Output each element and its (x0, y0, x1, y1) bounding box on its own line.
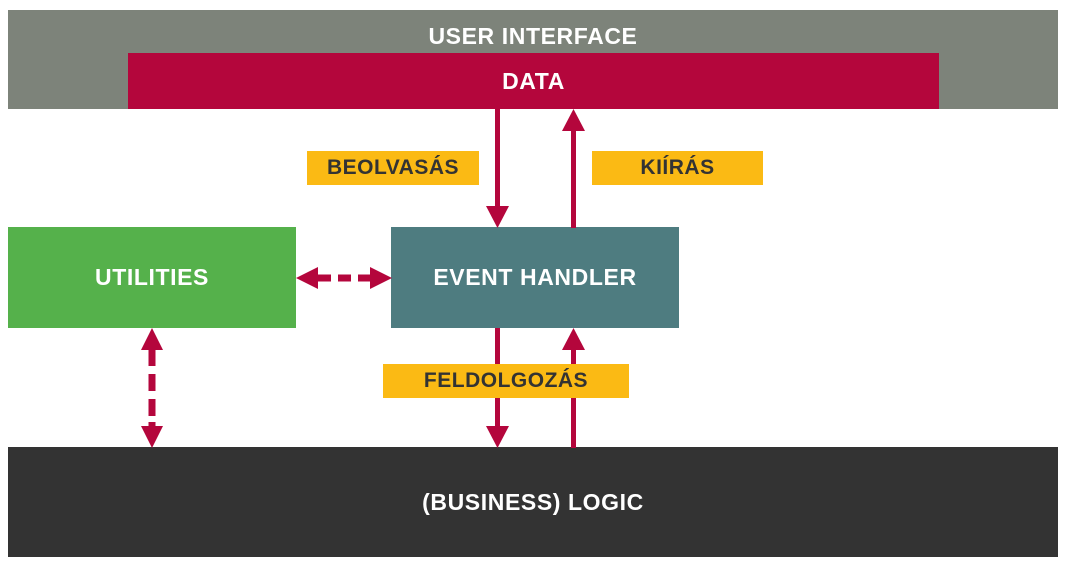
utilities-block: UTILITIES (8, 227, 296, 328)
arrow-data-to-event-handler (481, 109, 513, 228)
user-interface-label: USER INTERFACE (428, 23, 637, 50)
tag-kiiras-label: KIÍRÁS (640, 156, 714, 180)
utilities-label: UTILITIES (95, 264, 209, 291)
event-handler-label: EVENT HANDLER (433, 264, 636, 291)
event-handler-block: EVENT HANDLER (391, 227, 679, 328)
arrow-event-handler-to-data (557, 109, 589, 228)
arrow-utilities-logic (138, 328, 166, 448)
tag-beolvasas: BEOLVASÁS (307, 151, 479, 185)
tag-feldolgozas: FELDOLGOZÁS (383, 364, 629, 398)
tag-feldolgozas-label: FELDOLGOZÁS (424, 369, 588, 393)
business-logic-block: (BUSINESS) LOGIC (8, 447, 1058, 557)
data-block: DATA (128, 53, 939, 109)
data-label: DATA (502, 68, 565, 95)
business-logic-label: (BUSINESS) LOGIC (422, 489, 644, 516)
diagram-canvas: USER INTERFACE DATA BEOLVASÁS KIÍRÁS UTI… (0, 0, 1071, 572)
tag-beolvasas-label: BEOLVASÁS (327, 156, 459, 180)
arrow-utilities-event-handler (296, 264, 392, 292)
tag-kiiras: KIÍRÁS (592, 151, 763, 185)
